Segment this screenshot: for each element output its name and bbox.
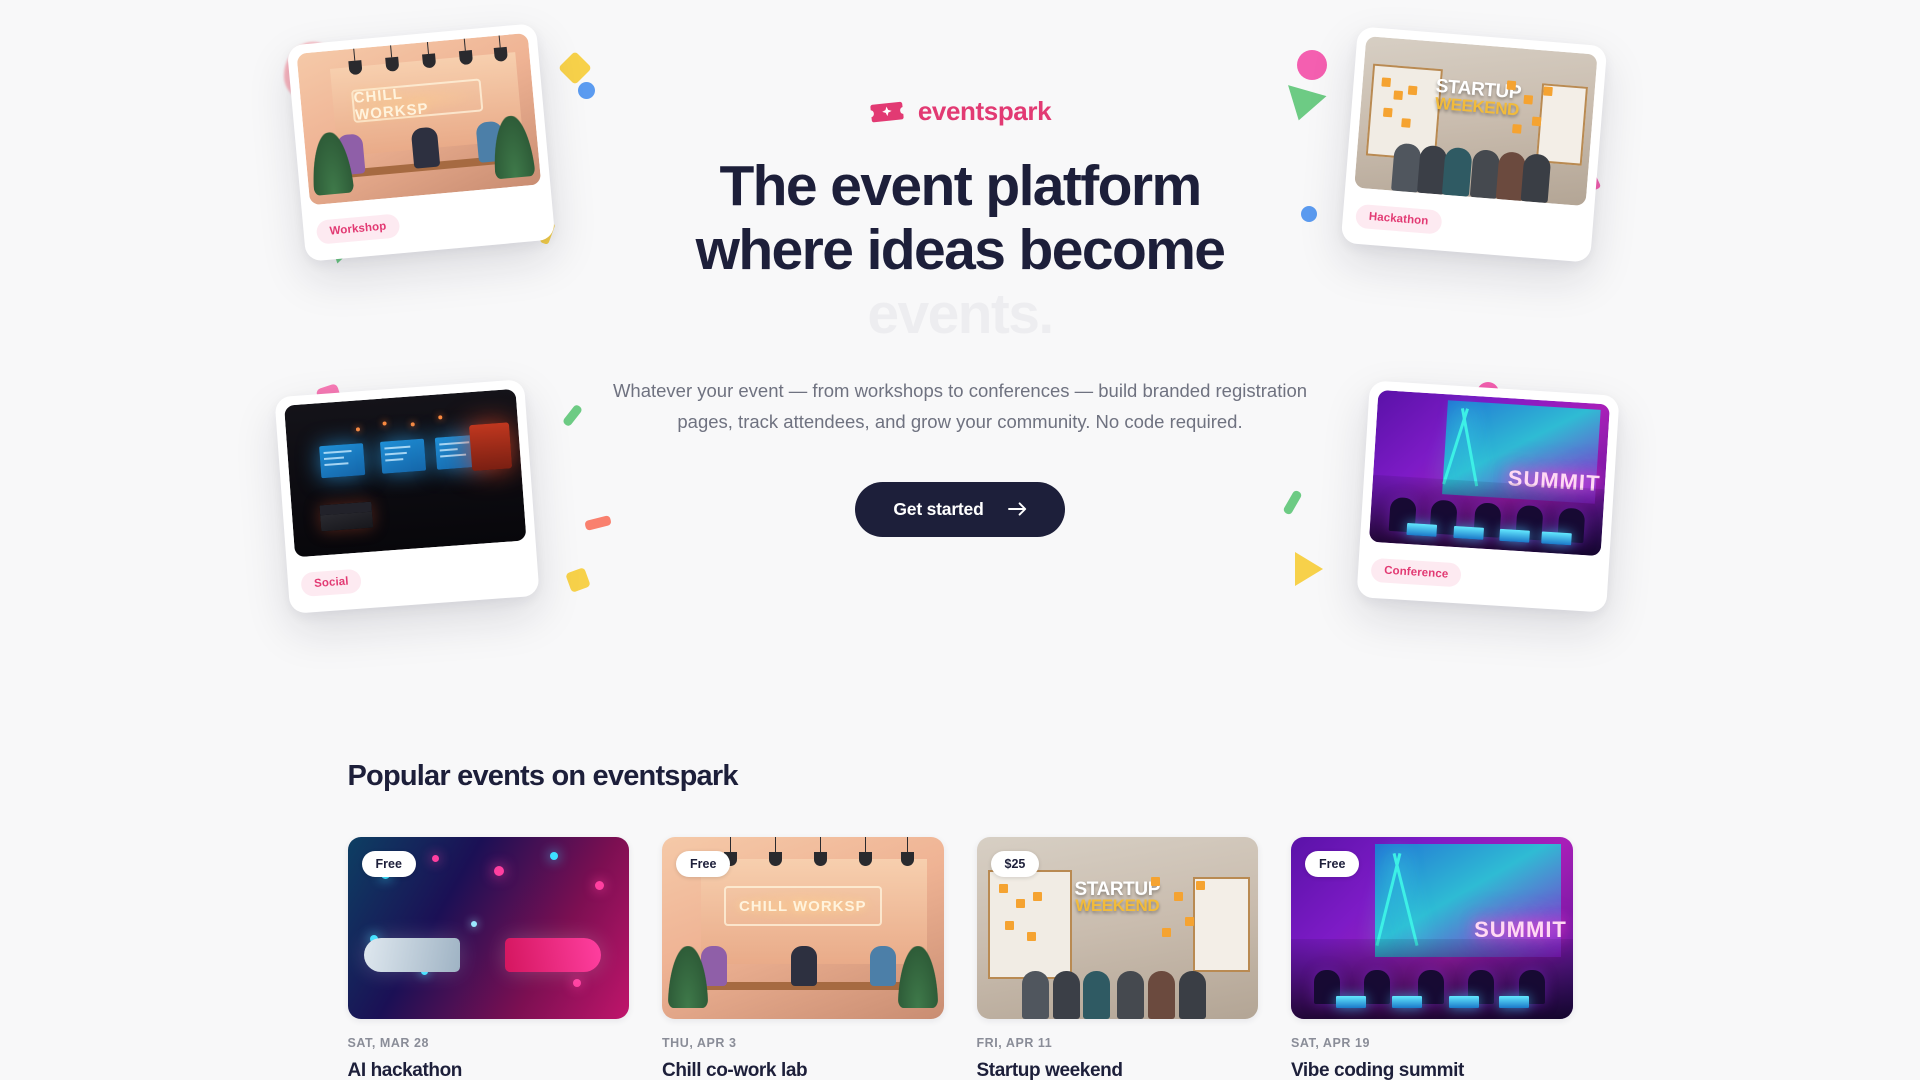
event-card[interactable]: Free SUMMIT xyxy=(1291,837,1573,1080)
float-card-thumb xyxy=(284,389,527,558)
hero-section: CHILL WORKSP Workshop xyxy=(0,0,1920,760)
event-card[interactable]: Free xyxy=(348,837,630,1080)
section-title: Popular events on eventspark xyxy=(348,760,1573,793)
popular-events-section: Popular events on eventspark Free xyxy=(0,760,1920,1080)
event-title: Startup weekend xyxy=(977,1059,1259,1080)
float-card-thumb: SUMMIT xyxy=(1369,390,1610,556)
event-title: AI hackathon xyxy=(348,1059,630,1080)
arrow-right-icon xyxy=(1008,502,1027,516)
decor-yellow-diamond xyxy=(558,51,592,85)
headline-line-2: where ideas become xyxy=(580,219,1340,283)
float-card-chip: Workshop xyxy=(316,213,401,244)
price-badge: Free xyxy=(362,851,416,877)
decor-pink-circle-top-right xyxy=(1297,50,1327,80)
get-started-button[interactable]: Get started xyxy=(855,482,1064,537)
event-card[interactable]: Free CHILL WORKSP xyxy=(662,837,944,1080)
scene-overlay-text: CHILL WORKSP xyxy=(724,886,882,926)
float-card-chip: Social xyxy=(300,569,362,597)
landing-page: CHILL WORKSP Workshop xyxy=(0,0,1920,1080)
decor-yellow-triangle-right xyxy=(1295,552,1323,586)
float-card-social[interactable]: Social xyxy=(274,379,539,614)
events-grid: Free xyxy=(348,837,1573,1080)
event-date: THU, APR 3 xyxy=(662,1036,944,1050)
float-card-conference[interactable]: SUMMIT Conference xyxy=(1356,380,1619,612)
page-title: The event platform where ideas become ev… xyxy=(580,155,1340,346)
headline-line-3-animating: events. xyxy=(580,283,1340,347)
event-title: Chill co-work lab xyxy=(662,1059,944,1080)
scene-overlay-text: STARTUPWEEKEND xyxy=(1044,881,1190,914)
event-thumbnail: Free SUMMIT xyxy=(1291,837,1573,1019)
price-badge: Free xyxy=(676,851,730,877)
brand-name: eventspark xyxy=(918,96,1051,127)
price-badge: Free xyxy=(1305,851,1359,877)
float-card-thumb: STARTUPWEEKEND xyxy=(1354,36,1597,206)
event-date: FRI, APR 11 xyxy=(977,1036,1259,1050)
float-card-hackathon[interactable]: STARTUPWEEKEND xyxy=(1341,26,1608,262)
float-card-thumb: CHILL WORKSP xyxy=(296,33,541,205)
event-date: SAT, APR 19 xyxy=(1291,1036,1573,1050)
event-thumbnail: $25 STARTUPWEEKEND xyxy=(977,837,1259,1019)
float-card-chip: Hackathon xyxy=(1355,204,1442,235)
price-badge: $25 xyxy=(991,851,1040,877)
get-started-label: Get started xyxy=(893,499,983,520)
event-card[interactable]: $25 STARTUPWEEKEND xyxy=(977,837,1259,1080)
brand-logo[interactable]: eventspark xyxy=(580,96,1340,127)
cta-row: Get started xyxy=(580,482,1340,537)
event-thumbnail: Free CHILL WORKSP xyxy=(662,837,944,1019)
headline-line-1: The event platform xyxy=(580,155,1340,219)
hero-subtitle: Whatever your event — from workshops to … xyxy=(580,376,1340,437)
scene-startup-weekend: STARTUPWEEKEND xyxy=(1354,36,1597,206)
scene-chill-workspace: CHILL WORKSP xyxy=(296,33,541,205)
float-card-chip: Conference xyxy=(1370,558,1462,588)
float-card-workshop[interactable]: CHILL WORKSP Workshop xyxy=(287,23,556,262)
decor-yellow-square-lower-left xyxy=(565,567,591,593)
hero-content: eventspark The event platform where idea… xyxy=(580,96,1340,537)
event-date: SAT, MAR 28 xyxy=(348,1036,630,1050)
event-thumbnail: Free xyxy=(348,837,630,1019)
ticket-sparkle-icon xyxy=(868,97,907,127)
scene-dark-monitors xyxy=(284,389,527,558)
event-title: Vibe coding summit xyxy=(1291,1059,1573,1080)
scene-neon-summit: SUMMIT xyxy=(1369,390,1610,556)
